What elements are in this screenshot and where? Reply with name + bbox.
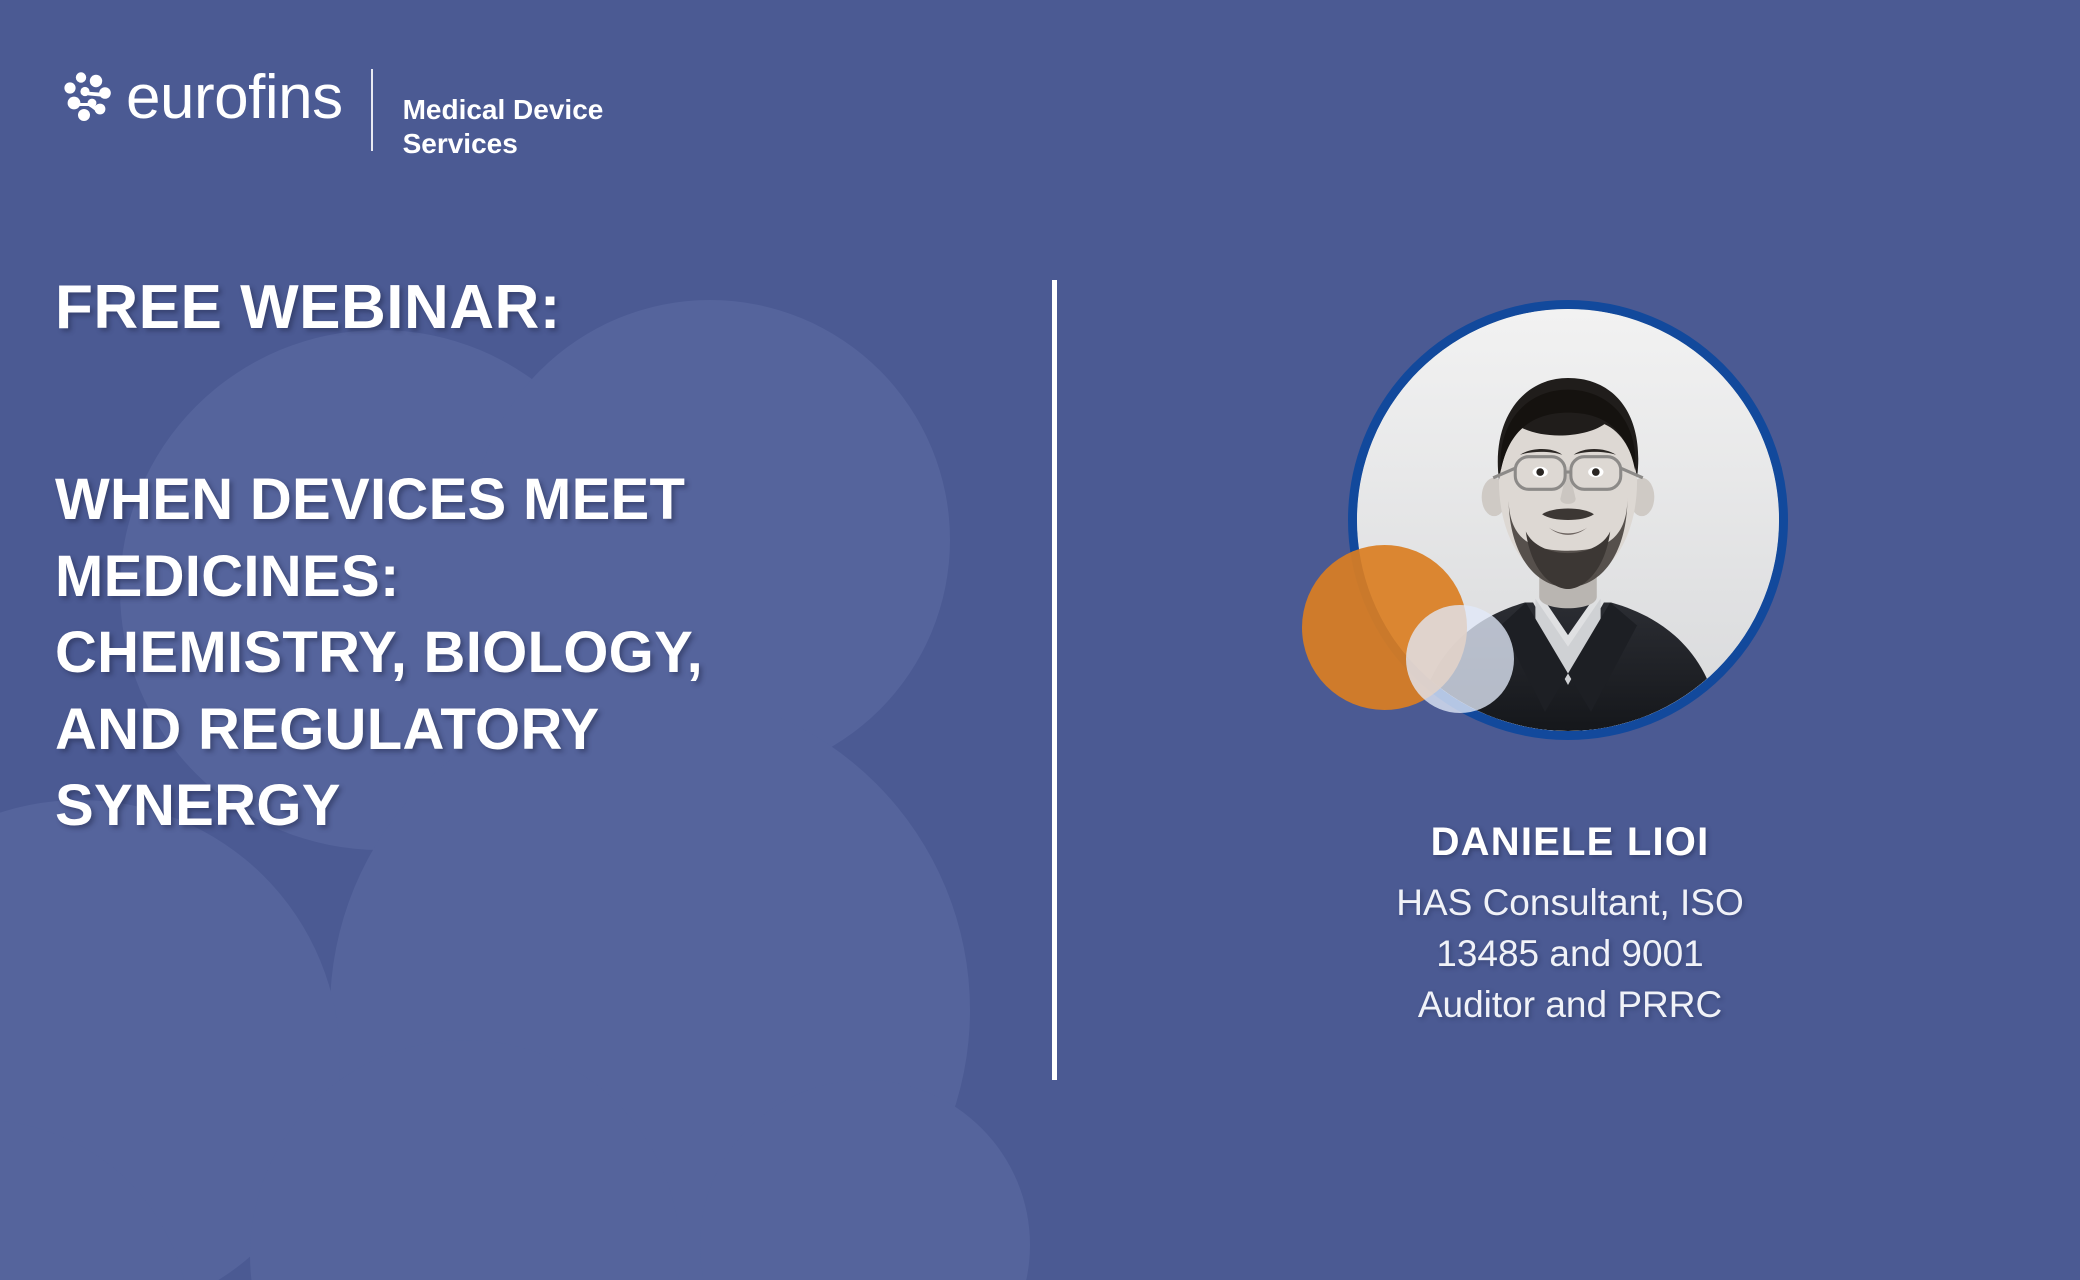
badge-circle-light — [1406, 605, 1514, 713]
page-title: WHEN DEVICES MEET MEDICINES: CHEMISTRY, … — [55, 462, 915, 845]
eurofins-dots-logo-icon — [62, 71, 114, 123]
headline-block: FREE WEBINAR: WHEN DEVICES MEET MEDICINE… — [55, 275, 915, 845]
speaker-name: DANIELE LIOI — [1230, 820, 1910, 865]
speaker-role: HAS Consultant, ISO 13485 and 9001 Audit… — [1230, 877, 1910, 1030]
brand-logo: eurofins Medical Device Services — [62, 55, 603, 161]
vertical-divider — [1052, 280, 1057, 1080]
eurofins-wordmark: eurofins — [126, 67, 343, 129]
background-blob — [250, 1040, 680, 1280]
background-blob — [0, 800, 340, 1280]
background-blob — [0, 1120, 190, 1280]
background-blob — [700, 1080, 1030, 1280]
logo-divider — [371, 69, 373, 151]
webinar-promo-slide: eurofins Medical Device Services FREE WE… — [0, 0, 2080, 1280]
speaker-portrait-wrap — [1348, 300, 1788, 740]
eyebrow-text: FREE WEBINAR: — [55, 275, 915, 342]
speaker-info: DANIELE LIOI HAS Consultant, ISO 13485 a… — [1230, 820, 1910, 1030]
business-unit-label: Medical Device Services — [403, 93, 604, 161]
